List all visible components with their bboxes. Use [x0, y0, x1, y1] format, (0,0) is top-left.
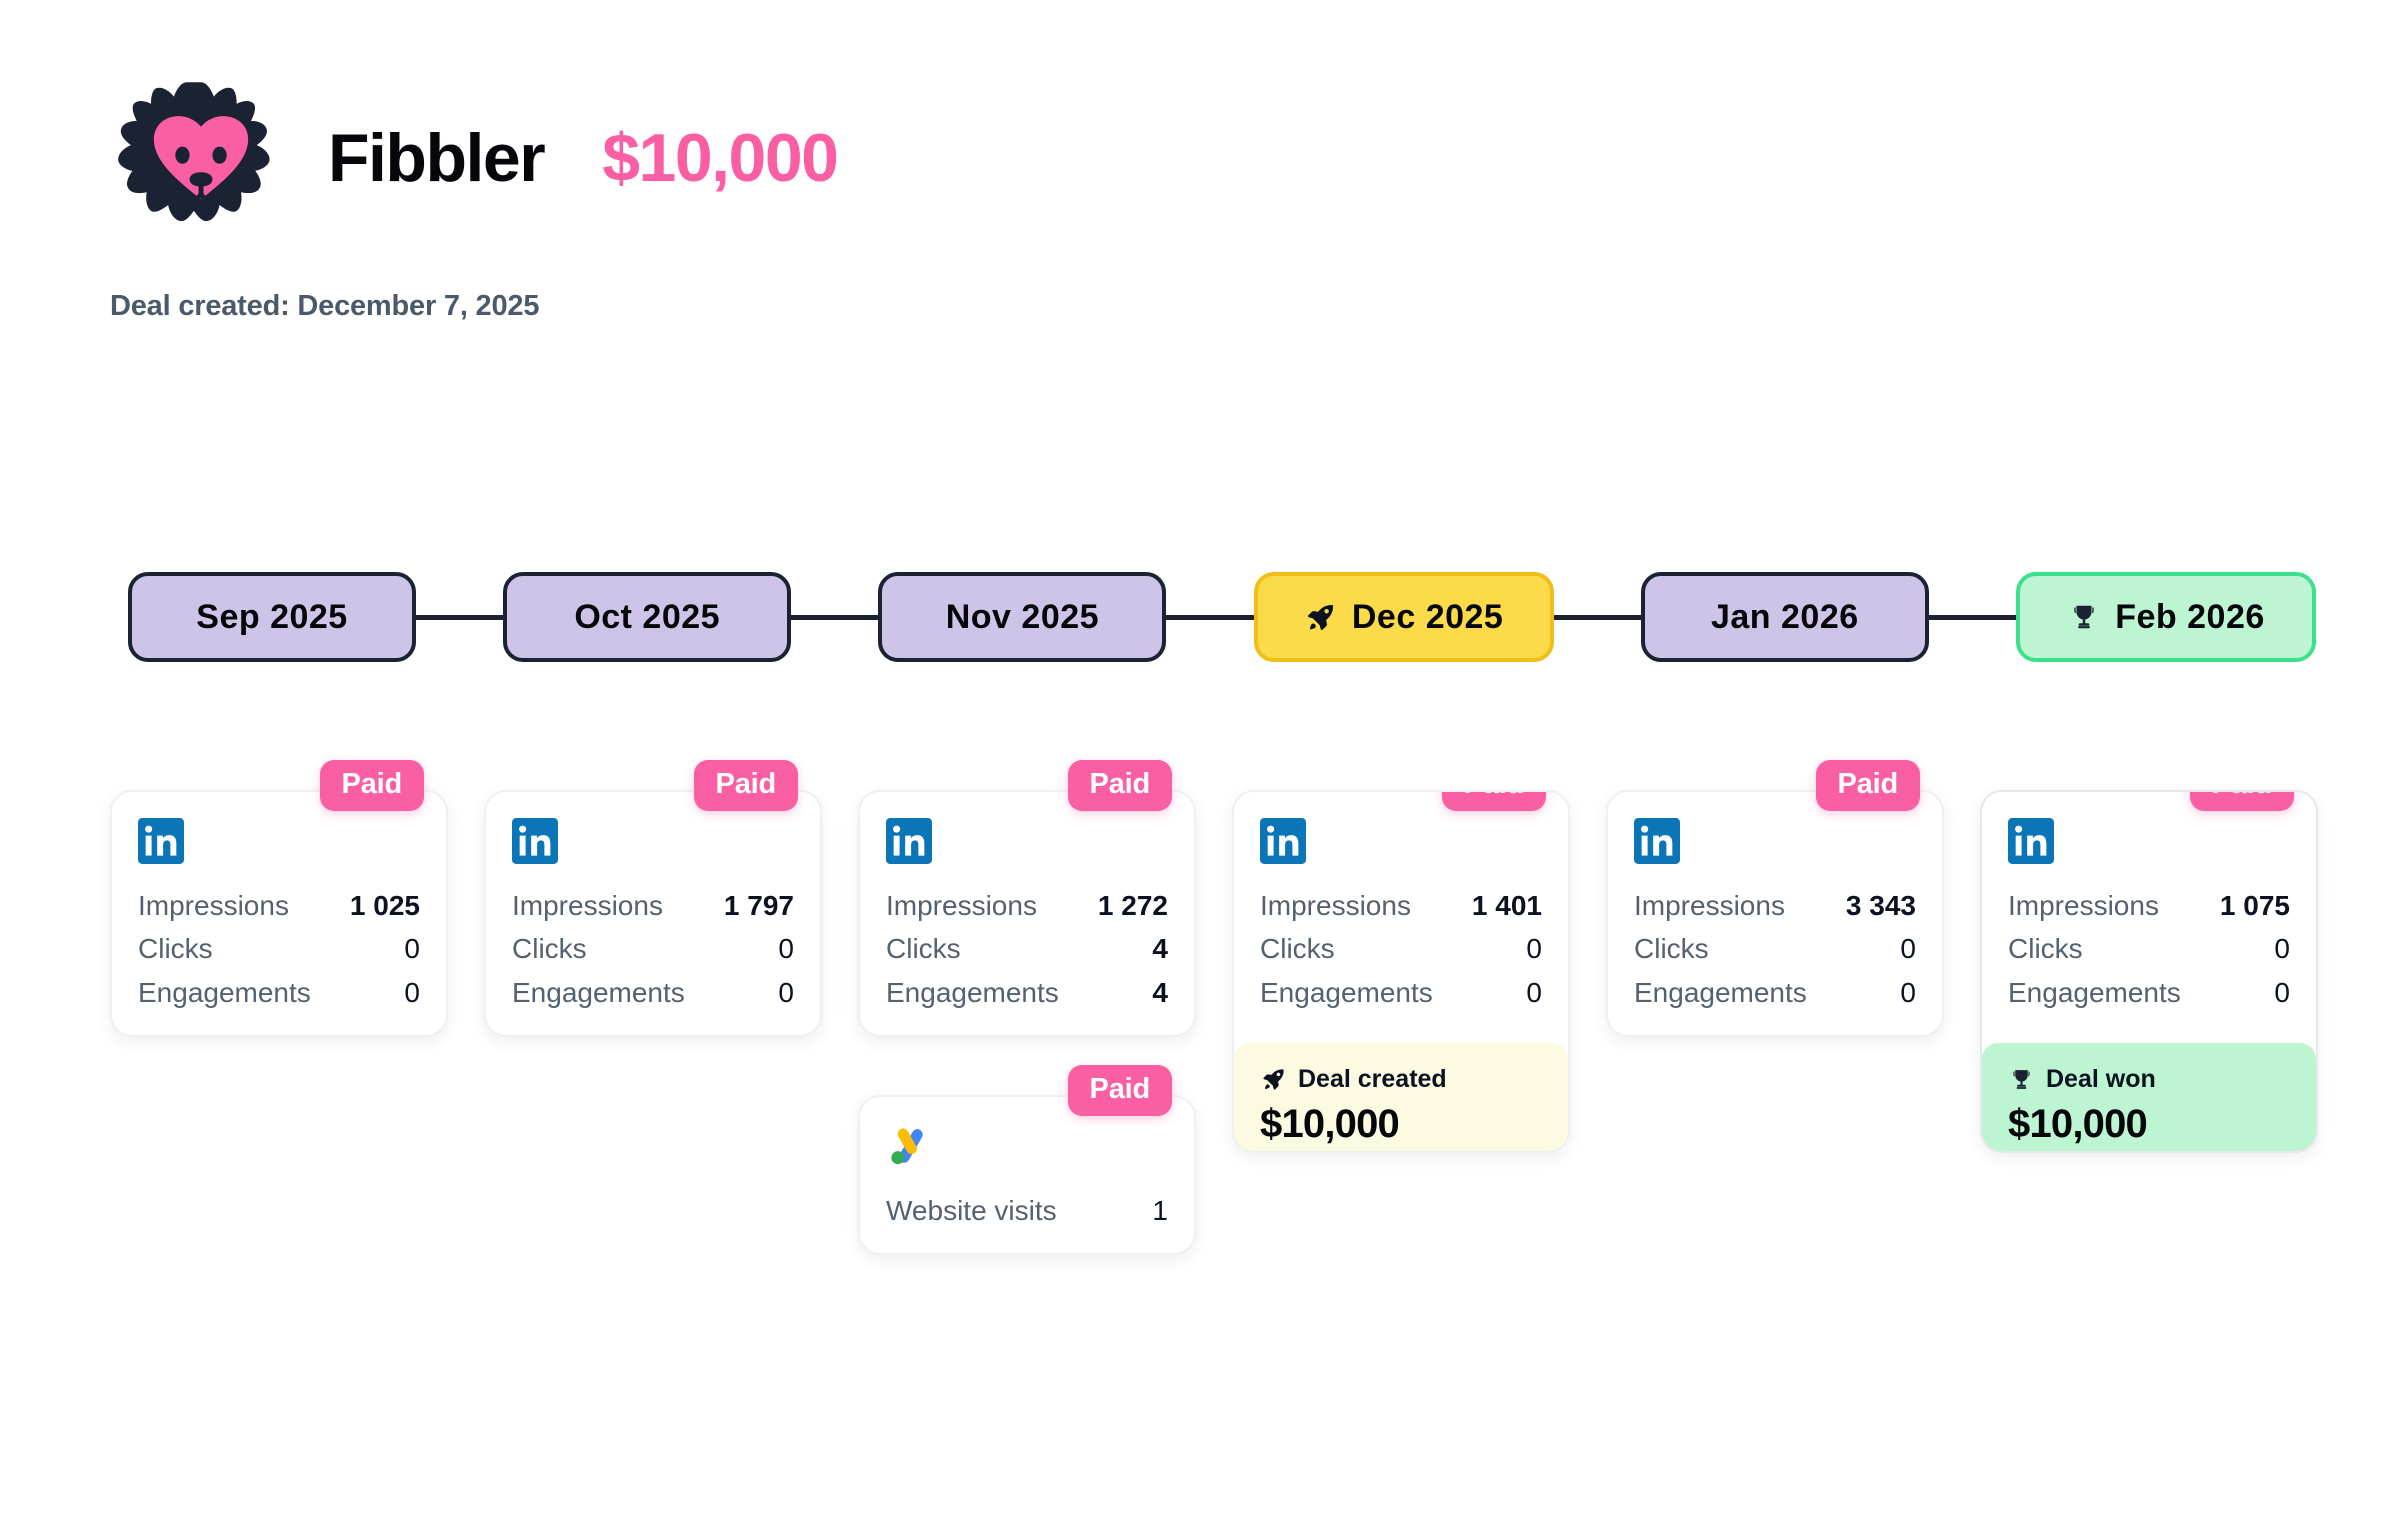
metric-row: Engagements 0: [2008, 973, 2290, 1013]
linkedin-icon: [1634, 818, 1680, 864]
event-deal-won[interactable]: Deal won $10,000: [1982, 1043, 2316, 1153]
metric-value: 4: [1152, 929, 1168, 969]
metric-list: Website visits 1: [886, 1191, 1168, 1231]
deal-amount: $10,000: [602, 124, 837, 192]
metric-value: 3 343: [1846, 886, 1916, 926]
metrics-card-linkedin[interactable]: Paid Impressions 1 272 Clicks 4: [858, 790, 1196, 1037]
column-jan-2026: Paid Impressions 3 343 Clicks 0: [1606, 790, 1944, 1255]
rocket-icon: [1260, 1066, 1287, 1093]
metric-value: 1 401: [1472, 886, 1542, 926]
timeline-node-oct-2025[interactable]: Oct 2025: [503, 572, 791, 662]
timeline-node-jan-2026[interactable]: Jan 2026: [1641, 572, 1929, 662]
timeline-connector: [1166, 615, 1253, 620]
metric-label: Impressions: [1260, 886, 1411, 926]
metric-row: Engagements 0: [138, 973, 420, 1013]
deal-name: Fibbler: [328, 124, 544, 192]
metric-value: 0: [1900, 973, 1916, 1013]
metric-label: Engagements: [138, 973, 311, 1013]
metrics-card-linkedin[interactable]: Paid Impressions 1 401 Clicks 0: [1232, 790, 1570, 1153]
metric-row: Engagements 0: [512, 973, 794, 1013]
timeline-connector: [791, 615, 878, 620]
event-amount: $10,000: [1260, 1102, 1542, 1147]
timeline-connector: [1554, 615, 1641, 620]
timeline-connector: [1929, 615, 2016, 620]
metric-row: Impressions 1 075: [2008, 886, 2290, 926]
metric-row: Impressions 3 343: [1634, 886, 1916, 926]
lion-heart-logo-icon: [110, 78, 292, 238]
metrics-columns: Paid Impressions 1 025 Clicks 0: [110, 790, 2325, 1255]
timeline-node-label: Jan 2026: [1711, 598, 1859, 637]
timeline-connector: [416, 615, 503, 620]
column-sep-2025: Paid Impressions 1 025 Clicks 0: [110, 790, 448, 1255]
metric-list: Impressions 1 075 Clicks 0 Engagements 0: [2008, 886, 2290, 1013]
timeline-node-nov-2025[interactable]: Nov 2025: [878, 572, 1166, 662]
event-title: Deal won: [2046, 1065, 2156, 1094]
metric-value: 0: [1526, 929, 1542, 969]
metric-value: 1: [1152, 1191, 1168, 1231]
metric-row: Clicks 0: [138, 929, 420, 969]
event-title: Deal created: [1298, 1065, 1447, 1094]
timeline-node-label: Oct 2025: [574, 598, 720, 637]
linkedin-icon: [512, 818, 558, 864]
metric-list: Impressions 1 272 Clicks 4 Engagements 4: [886, 886, 1168, 1013]
status-badge-paid: Paid: [1442, 790, 1546, 811]
trophy-icon: [2008, 1066, 2035, 1093]
column-feb-2026: Paid Impressions 1 075 Clicks 0: [1980, 790, 2318, 1255]
metric-label: Clicks: [1260, 929, 1335, 969]
metric-row: Clicks 0: [1634, 929, 1916, 969]
metric-label: Clicks: [886, 929, 961, 969]
google-ads-icon: [886, 1123, 932, 1169]
timeline-node-dec-2025[interactable]: Dec 2025: [1254, 572, 1554, 662]
metric-row: Engagements 0: [1634, 973, 1916, 1013]
metric-value: 1 075: [2220, 886, 2290, 926]
month-timeline: Sep 2025 Oct 2025 Nov 2025 Dec 2025 Jan …: [128, 572, 2316, 662]
metric-row: Impressions 1 797: [512, 886, 794, 926]
metric-row: Clicks 0: [1260, 929, 1542, 969]
metric-label: Impressions: [1634, 886, 1785, 926]
metrics-card-linkedin[interactable]: Paid Impressions 1 797 Clicks 0: [484, 790, 822, 1037]
metric-row: Impressions 1 401: [1260, 886, 1542, 926]
timeline-node-feb-2026[interactable]: Feb 2026: [2016, 572, 2316, 662]
metric-row: Clicks 0: [2008, 929, 2290, 969]
metric-label: Impressions: [512, 886, 663, 926]
linkedin-icon: [1260, 818, 1306, 864]
metric-label: Clicks: [138, 929, 213, 969]
metric-label: Engagements: [886, 973, 1059, 1013]
metric-label: Engagements: [2008, 973, 2181, 1013]
column-oct-2025: Paid Impressions 1 797 Clicks 0: [484, 790, 822, 1255]
metric-value: 0: [404, 929, 420, 969]
metric-list: Impressions 1 025 Clicks 0 Engagements 0: [138, 886, 420, 1013]
event-deal-created[interactable]: Deal created $10,000: [1234, 1043, 1568, 1153]
metric-row: Website visits 1: [886, 1191, 1168, 1231]
page-header: Fibbler $10,000 Deal created: December 7…: [0, 0, 2388, 323]
status-badge-paid: Paid: [1816, 760, 1920, 811]
metric-label: Website visits: [886, 1191, 1057, 1231]
metric-value: 0: [1900, 929, 1916, 969]
metric-value: 1 272: [1098, 886, 1168, 926]
metric-list: Impressions 1 401 Clicks 0 Engagements 0: [1260, 886, 1542, 1013]
metric-value: 0: [2274, 973, 2290, 1013]
metric-row: Impressions 1 272: [886, 886, 1168, 926]
metrics-card-google-ads[interactable]: Paid Website visits 1: [858, 1095, 1196, 1255]
status-badge-paid: Paid: [1068, 760, 1172, 811]
metric-label: Impressions: [2008, 886, 2159, 926]
metric-row: Impressions 1 025: [138, 886, 420, 926]
metrics-card-linkedin[interactable]: Paid Impressions 1 075 Clicks 0: [1980, 790, 2318, 1153]
event-header: Deal created: [1260, 1065, 1542, 1094]
metric-list: Impressions 1 797 Clicks 0 Engagements 0: [512, 886, 794, 1013]
column-nov-2025: Paid Impressions 1 272 Clicks 4: [858, 790, 1196, 1255]
metric-row: Clicks 0: [512, 929, 794, 969]
linkedin-icon: [886, 818, 932, 864]
timeline-node-label: Dec 2025: [1352, 598, 1503, 637]
linkedin-icon: [2008, 818, 2054, 864]
metric-label: Impressions: [138, 886, 289, 926]
status-badge-paid: Paid: [320, 760, 424, 811]
timeline-node-sep-2025[interactable]: Sep 2025: [128, 572, 416, 662]
event-amount: $10,000: [2008, 1102, 2290, 1147]
metric-row: Engagements 4: [886, 973, 1168, 1013]
metric-list: Impressions 3 343 Clicks 0 Engagements 0: [1634, 886, 1916, 1013]
metric-value: 1 025: [350, 886, 420, 926]
status-badge-paid: Paid: [2190, 790, 2294, 811]
metric-label: Impressions: [886, 886, 1037, 926]
metric-label: Engagements: [1634, 973, 1807, 1013]
metric-value: 0: [1526, 973, 1542, 1013]
metric-label: Clicks: [1634, 929, 1709, 969]
metric-value: 0: [2274, 929, 2290, 969]
metric-value: 0: [778, 973, 794, 1013]
metric-value: 0: [778, 929, 794, 969]
status-badge-paid: Paid: [1068, 1065, 1172, 1116]
linkedin-icon: [138, 818, 184, 864]
metric-label: Clicks: [512, 929, 587, 969]
timeline-node-label: Sep 2025: [196, 598, 347, 637]
metric-label: Engagements: [512, 973, 685, 1013]
metric-row: Engagements 0: [1260, 973, 1542, 1013]
metric-value: 4: [1152, 973, 1168, 1013]
timeline-node-label: Feb 2026: [2115, 598, 2265, 637]
metric-value: 0: [404, 973, 420, 1013]
event-header: Deal won: [2008, 1065, 2290, 1094]
trophy-icon: [2067, 600, 2101, 634]
metric-label: Clicks: [2008, 929, 2083, 969]
metrics-card-linkedin[interactable]: Paid Impressions 1 025 Clicks 0: [110, 790, 448, 1037]
metric-value: 1 797: [724, 886, 794, 926]
column-dec-2025: Paid Impressions 1 401 Clicks 0: [1232, 790, 1570, 1255]
deal-title-row: Fibbler $10,000: [110, 78, 2388, 238]
deal-created-date: Deal created: December 7, 2025: [110, 290, 2388, 323]
status-badge-paid: Paid: [694, 760, 798, 811]
rocket-icon: [1304, 600, 1338, 634]
timeline-node-label: Nov 2025: [946, 598, 1099, 637]
metric-row: Clicks 4: [886, 929, 1168, 969]
metric-label: Engagements: [1260, 973, 1433, 1013]
metrics-card-linkedin[interactable]: Paid Impressions 3 343 Clicks 0: [1606, 790, 1944, 1037]
